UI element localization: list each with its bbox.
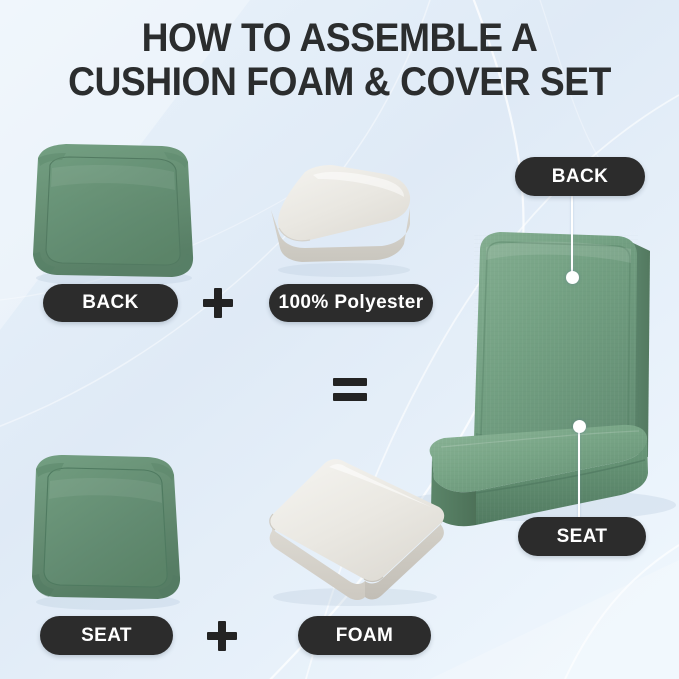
seat-foam-insert: [255, 447, 455, 612]
seat-cover-label: SEAT: [40, 616, 173, 655]
plus-operator-bottom: [207, 621, 237, 651]
assembled-seat-label: SEAT: [518, 517, 646, 556]
equals-bottom-bar: [333, 393, 367, 401]
assembled-back-label-text: BACK: [552, 166, 609, 188]
assembled-seat-label-text: SEAT: [557, 526, 608, 548]
infographic-canvas: HOW TO ASSEMBLE A CUSHION FOAM & COVER S…: [0, 0, 679, 679]
assembled-back-label: BACK: [515, 157, 645, 196]
foam-label-text: FOAM: [336, 625, 394, 647]
back-cushion-cover: [22, 138, 202, 288]
plus-vertical-bar: [214, 288, 222, 318]
back-cover-label: BACK: [43, 284, 178, 322]
polyester-label: 100% Polyester: [269, 284, 433, 322]
seat-callout-dot: [573, 420, 586, 433]
page-title: HOW TO ASSEMBLE A CUSHION FOAM & COVER S…: [24, 16, 655, 104]
equals-operator: [333, 378, 367, 401]
seat-cover-label-text: SEAT: [81, 625, 132, 647]
seat-callout-line: [578, 428, 580, 518]
seat-cushion-cover: [22, 447, 192, 612]
foam-label: FOAM: [298, 616, 431, 655]
equals-top-bar: [333, 378, 367, 386]
back-cover-label-text: BACK: [82, 292, 139, 314]
polyester-label-text: 100% Polyester: [278, 292, 423, 314]
plus-operator-top: [203, 288, 233, 318]
back-callout-line: [571, 196, 573, 278]
back-callout-dot: [566, 271, 579, 284]
plus-vertical-bar: [218, 621, 226, 651]
